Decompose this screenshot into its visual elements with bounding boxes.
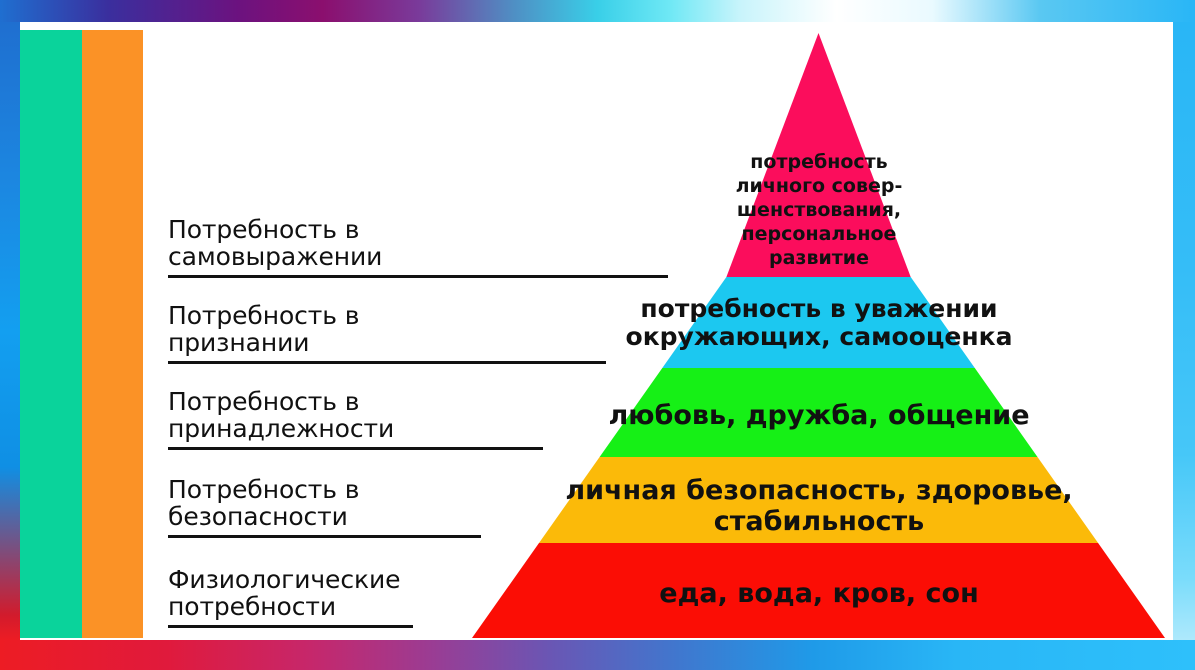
decorative-top-gradient-border	[0, 0, 1195, 22]
svg-text:потребность: потребность	[750, 151, 887, 173]
side-label-safety[interactable]: Потребность в безопасности	[168, 476, 708, 530]
side-label-self-actualization-text: Потребность в самовыражении	[168, 216, 708, 270]
svg-text:шенствования,: шенствования,	[737, 199, 901, 221]
accent-bar-teal	[20, 30, 82, 638]
side-label-rule-belonging	[168, 447, 543, 450]
decorative-right-gradient-border	[1173, 22, 1195, 640]
side-label-rule-self-actualization	[168, 275, 668, 278]
side-label-safety-text: Потребность в безопасности	[168, 476, 708, 530]
side-label-belonging[interactable]: Потребность в принадлежности	[168, 388, 708, 442]
decorative-left-gradient-border	[0, 22, 20, 640]
decorative-bottom-gradient-border	[0, 640, 1195, 670]
side-label-column: Потребность в самовыражении Потребность …	[168, 30, 708, 638]
accent-bar-orange	[82, 30, 143, 638]
svg-text:стабильность: стабильность	[714, 506, 924, 537]
side-label-esteem[interactable]: Потребность в признании	[168, 302, 708, 356]
maslow-pyramid-diagram: потребность личного совер- шенствования,…	[0, 0, 1195, 670]
side-label-belonging-text: Потребность в принадлежности	[168, 388, 708, 442]
svg-text:персональное: персональное	[742, 223, 897, 245]
side-label-esteem-text: Потребность в признании	[168, 302, 708, 356]
side-label-rule-physiological	[168, 625, 413, 628]
diagram-card: потребность личного совер- шенствования,…	[20, 30, 1173, 638]
side-label-rule-safety	[168, 535, 481, 538]
side-label-physiological[interactable]: Физиологические потребности	[168, 566, 708, 620]
side-label-physiological-text: Физиологические потребности	[168, 566, 708, 620]
side-label-rule-esteem	[168, 361, 606, 364]
svg-text:личного совер-: личного совер-	[736, 175, 903, 197]
side-label-self-actualization[interactable]: Потребность в самовыражении	[168, 216, 708, 270]
svg-text:развитие: развитие	[769, 247, 869, 269]
